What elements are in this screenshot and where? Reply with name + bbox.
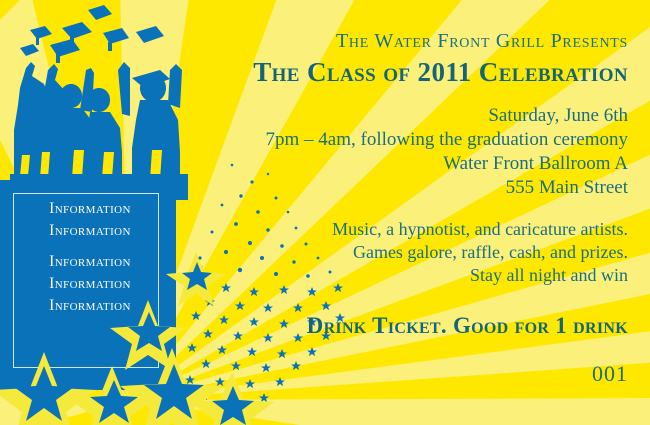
presents-line: The Water Front Grill Presents — [208, 30, 628, 53]
blurb-line-3: Stay all night and win — [208, 264, 628, 287]
ticket-text-block: The Water Front Grill Presents The Class… — [208, 0, 628, 387]
information-lines: Information Information Information Info… — [0, 198, 176, 317]
information-line-3: Information — [4, 251, 176, 273]
event-date: Saturday, June 6th — [208, 104, 628, 128]
information-line-2: Information — [4, 220, 176, 242]
graduates-silhouette-icon — [0, 0, 200, 200]
event-ticket: Information Information Information Info… — [0, 0, 650, 425]
information-line-4: Information — [4, 273, 176, 295]
ticket-serial-number: 001 — [208, 361, 628, 387]
information-panel: Information Information Information Info… — [0, 180, 176, 390]
event-title: The Class of 2011 Celebration — [208, 57, 628, 88]
information-line-5: Information — [4, 295, 176, 317]
event-venue: Water Front Ballroom A — [208, 152, 628, 176]
event-address: 555 Main Street — [208, 176, 628, 200]
blurb-line-2: Games galore, raffle, cash, and prizes. — [208, 241, 628, 264]
blurb-line-1: Music, a hypnotist, and caricature artis… — [208, 218, 628, 241]
event-time: 7pm – 4am, following the graduation cere… — [208, 128, 628, 152]
information-line-1: Information — [4, 198, 176, 220]
drink-ticket-label: Drink Ticket. Good for 1 drink — [208, 313, 628, 339]
event-blurb: Music, a hypnotist, and caricature artis… — [208, 218, 628, 287]
event-details: Saturday, June 6th 7pm – 4am, following … — [208, 104, 628, 200]
information-spacer — [4, 242, 176, 251]
